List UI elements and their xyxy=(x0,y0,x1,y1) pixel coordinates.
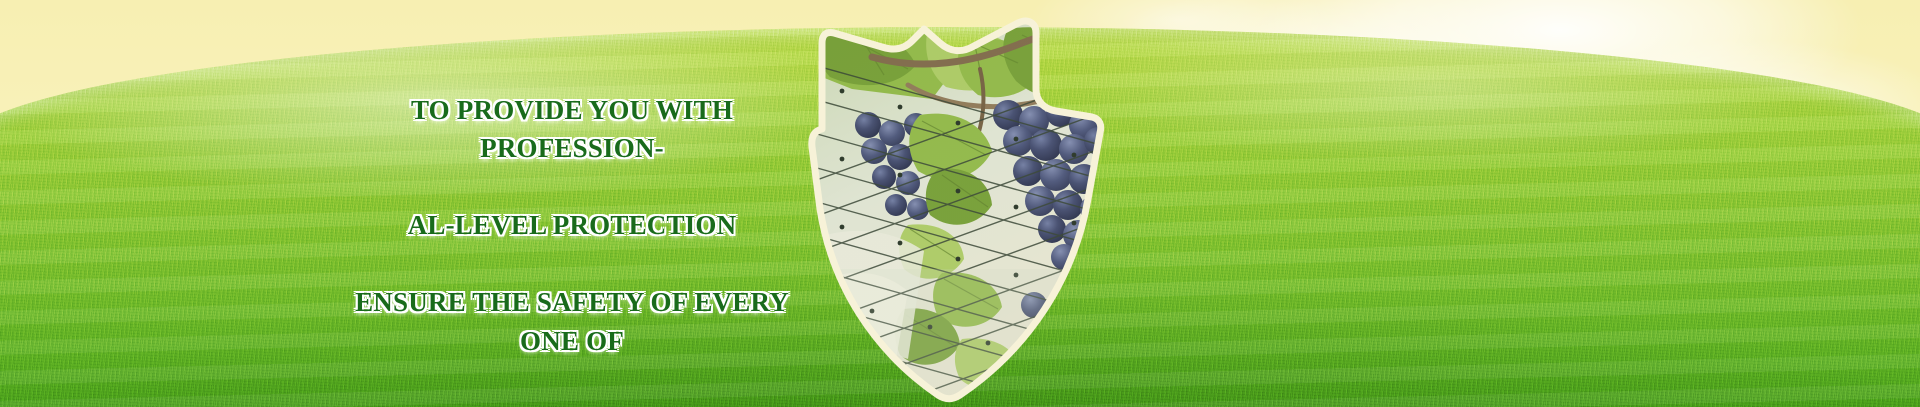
shield-photo-content xyxy=(792,9,1132,407)
headline-line-2: AL-LEVEL PROTECTION xyxy=(352,206,792,245)
headline-line-3: ENSURE THE SAFETY OF EVERY ONE OF xyxy=(352,283,792,360)
headline-line-1: TO PROVIDE YOU WITH PROFESSION- xyxy=(352,91,792,168)
hero-banner: TO PROVIDE YOU WITH PROFESSION- AL-LEVEL… xyxy=(0,0,1920,407)
headline-line-4: THE FRUIT xyxy=(352,399,792,407)
shield-emblem xyxy=(812,29,1102,407)
headline-text-block: TO PROVIDE YOU WITH PROFESSION- AL-LEVEL… xyxy=(352,52,792,407)
